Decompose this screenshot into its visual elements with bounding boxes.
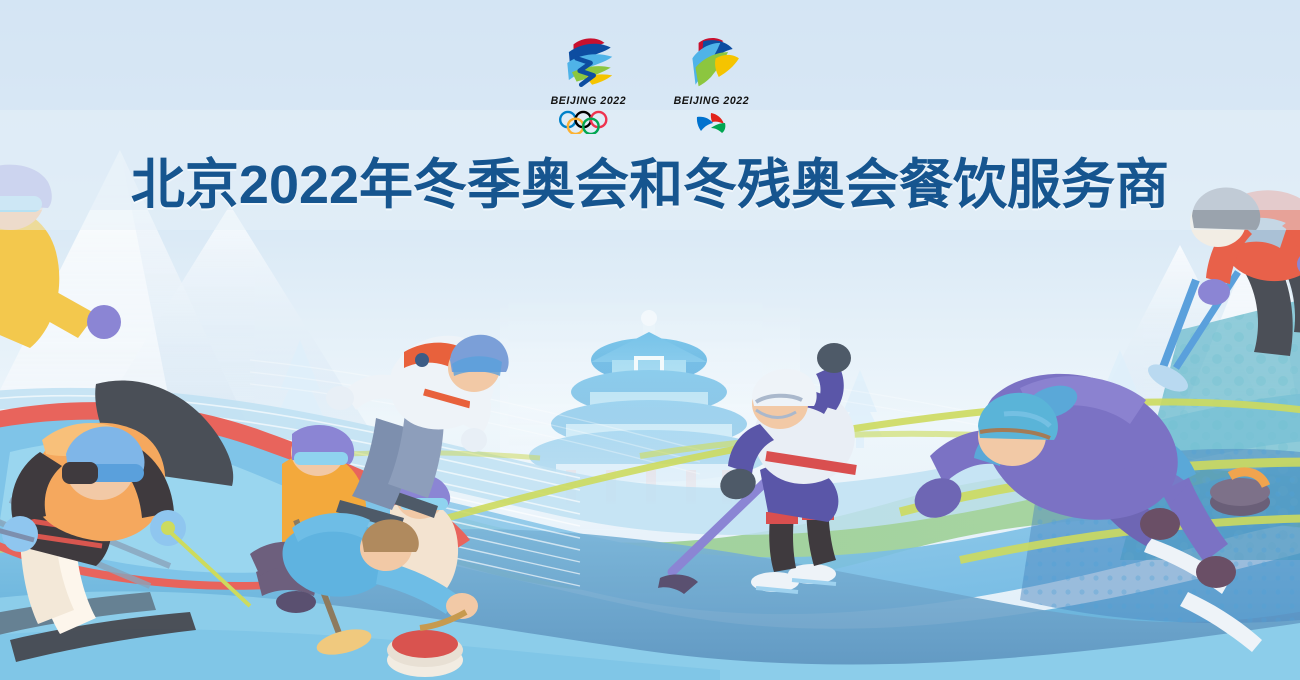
page-title: 北京2022年冬季奥会和冬残奥会餐饮服务商	[0, 140, 1300, 219]
olympic-rings-icon	[554, 110, 624, 134]
beijing-2022-catering-banner: BEIJING 2022 BEIJING 2022	[0, 0, 1300, 680]
agitos-icon	[686, 111, 736, 133]
olympic-wordmark: BEIJING 2022	[551, 95, 627, 107]
beijing-2022-olympic-emblem-icon	[550, 32, 628, 94]
emblem-row: BEIJING 2022 BEIJING 2022	[0, 32, 1300, 134]
beijing-2022-paralympic-emblem-icon	[672, 32, 750, 94]
paralympic-emblem-block: BEIJING 2022	[672, 32, 751, 133]
olympic-emblem-block: BEIJING 2022	[549, 32, 628, 134]
paralympic-wordmark: BEIJING 2022	[674, 95, 750, 107]
